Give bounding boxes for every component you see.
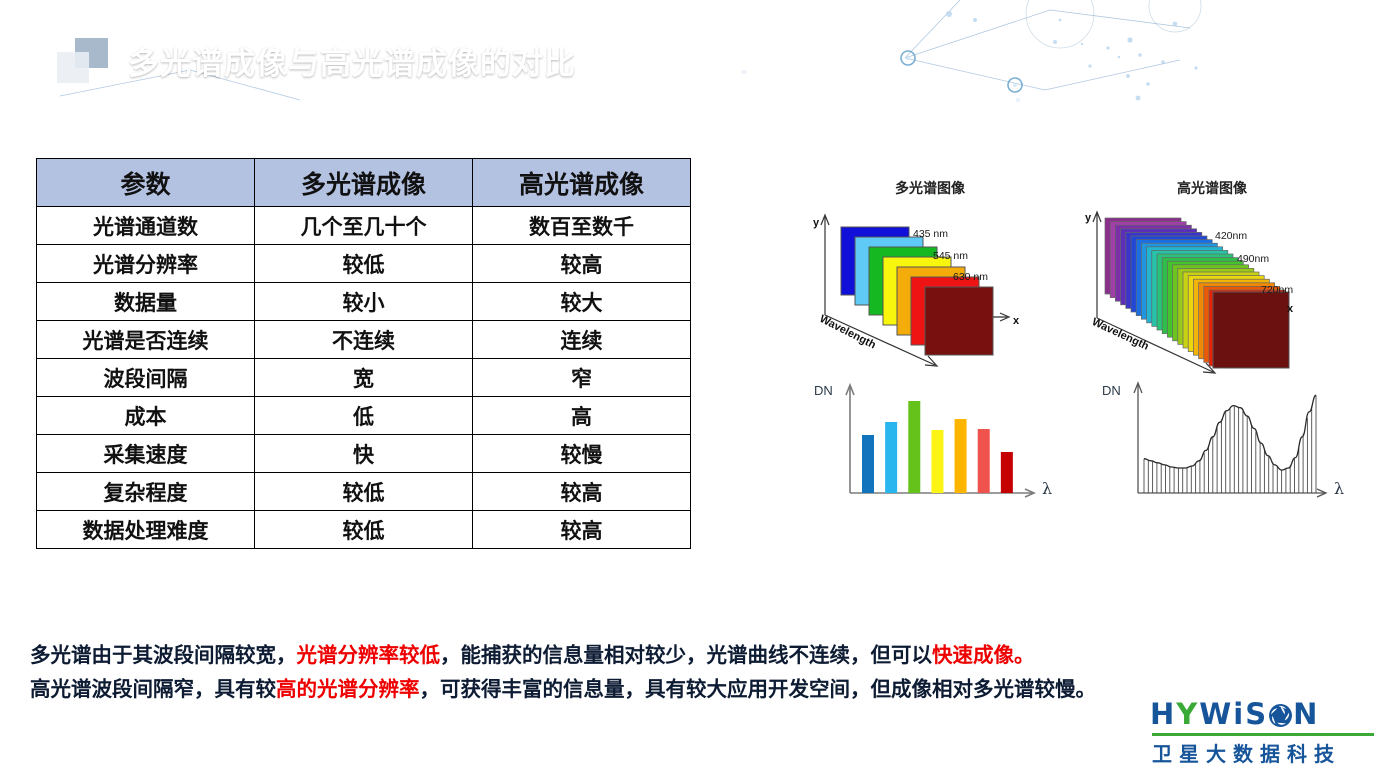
cell-hyperspectral: 数百至数千 bbox=[473, 207, 691, 245]
cell-multispectral: 较低 bbox=[255, 511, 473, 549]
axis-label-x-ms: x bbox=[1013, 315, 1019, 327]
slide-root: 多光谱成像与高光谱成像的对比 参数 多光谱成像 高光谱成像 光谱通道数几个至几十… bbox=[0, 0, 1398, 769]
table-row: 成本低高 bbox=[37, 397, 691, 435]
slide-header: 多光谱成像与高光谱成像的对比 bbox=[0, 0, 1398, 104]
body-text: ，能捕获的信息量相对较少，光谱曲线不连续，但可以 bbox=[440, 643, 932, 667]
cell-hyperspectral: 连续 bbox=[473, 321, 691, 359]
summary-paragraph-multispectral: 多光谱由于其波段间隔较宽，光谱分辨率较低，能捕获的信息量相对较少，光谱曲线不连续… bbox=[30, 638, 1035, 668]
cell-param: 波段间隔 bbox=[37, 359, 255, 397]
cell-hyperspectral: 较慢 bbox=[473, 435, 691, 473]
cell-multispectral: 低 bbox=[255, 397, 473, 435]
hs-axis-label-lambda: λ bbox=[1334, 479, 1344, 498]
logo-letters-wis: WiS bbox=[1199, 697, 1268, 731]
bar-b5 bbox=[955, 419, 967, 493]
spectral-diagram-panel: 多光谱图像 高光谱图像 435 nm bbox=[730, 160, 1380, 560]
two-squares-icon bbox=[57, 38, 113, 84]
body-text: 多光谱由于其波段间隔较宽， bbox=[30, 643, 297, 667]
cell-param: 光谱是否连续 bbox=[37, 321, 255, 359]
cell-hyperspectral: 较高 bbox=[473, 511, 691, 549]
cell-multispectral: 快 bbox=[255, 435, 473, 473]
ms-axis-label-dn: DN bbox=[814, 383, 833, 398]
band-label-545: 545 nm bbox=[933, 250, 968, 262]
cell-param: 光谱通道数 bbox=[37, 207, 255, 245]
axis-label-y-ms: y bbox=[813, 217, 819, 229]
cell-param: 光谱分辨率 bbox=[37, 245, 255, 283]
bar-b7 bbox=[1001, 452, 1013, 493]
band-label-490: 490nm bbox=[1237, 253, 1269, 265]
band-label-420: 420nm bbox=[1215, 230, 1247, 242]
cell-multispectral: 较低 bbox=[255, 245, 473, 283]
table-row: 光谱是否连续不连续连续 bbox=[37, 321, 691, 359]
table-row: 采集速度快较慢 bbox=[37, 435, 691, 473]
hs-axis-label-dn: DN bbox=[1102, 383, 1121, 398]
summary-paragraph-hyperspectral: 高光谱波段间隔窄，具有较高的光谱分辨率，可获得丰富的信息量，具有较大应用开发空间… bbox=[30, 672, 1096, 702]
axis-label-x-hs: x bbox=[1287, 303, 1293, 315]
cell-hyperspectral: 窄 bbox=[473, 359, 691, 397]
logo-letter-h: H bbox=[1150, 697, 1176, 731]
table-row: 光谱通道数几个至几十个数百至数千 bbox=[37, 207, 691, 245]
logo-letter-n: N bbox=[1293, 697, 1319, 731]
bar-b2 bbox=[885, 422, 897, 493]
square-front bbox=[57, 52, 89, 83]
cell-param: 采集速度 bbox=[37, 435, 255, 473]
table-row: 数据处理难度较低较高 bbox=[37, 511, 691, 549]
ms-axis-label-lambda: λ bbox=[1042, 479, 1052, 498]
cell-multispectral: 较小 bbox=[255, 283, 473, 321]
cell-param: 数据量 bbox=[37, 283, 255, 321]
multispectral-cube-title: 多光谱图像 bbox=[895, 178, 965, 198]
logo-divider bbox=[1152, 733, 1374, 736]
column-header-hyper: 高光谱成像 bbox=[473, 159, 691, 207]
cell-hyperspectral: 较高 bbox=[473, 245, 691, 283]
cell-hyperspectral: 较高 bbox=[473, 473, 691, 511]
highlighted-text: 快速成像。 bbox=[932, 643, 1035, 667]
band-label-630: 630 nm bbox=[953, 271, 988, 283]
bar-b3 bbox=[908, 401, 920, 493]
table-row: 数据量较小较大 bbox=[37, 283, 691, 321]
logo-chinese-name: 卫星大数据科技 bbox=[1152, 738, 1341, 767]
table-row: 波段间隔宽窄 bbox=[37, 359, 691, 397]
cell-param: 数据处理难度 bbox=[37, 511, 255, 549]
logo-wordmark: HYWiSN bbox=[1150, 698, 1319, 730]
bar-b6 bbox=[978, 429, 990, 493]
highlighted-text: 光谱分辨率较低 bbox=[297, 643, 441, 667]
table-row: 复杂程度较低较高 bbox=[37, 473, 691, 511]
multispectral-bar-chart: DN λ bbox=[810, 375, 1060, 510]
axis-label-y-hs: y bbox=[1085, 212, 1091, 224]
cell-hyperspectral: 较大 bbox=[473, 283, 691, 321]
cell-param: 复杂程度 bbox=[37, 473, 255, 511]
multispectral-cube: 435 nm 545 nm 630 nm y x Wavelength bbox=[785, 205, 1075, 370]
column-header-param: 参数 bbox=[37, 159, 255, 207]
highlighted-text: 高的光谱分辨率 bbox=[276, 677, 420, 701]
aperture-icon bbox=[1268, 702, 1293, 727]
cell-hyperspectral: 高 bbox=[473, 397, 691, 435]
bar-b1 bbox=[862, 435, 874, 493]
company-logo: HYWiSN 卫星大数据科技 bbox=[1150, 698, 1380, 762]
cell-multispectral: 几个至几十个 bbox=[255, 207, 473, 245]
body-text: 高光谱波段间隔窄，具有较 bbox=[30, 677, 276, 701]
column-header-multi: 多光谱成像 bbox=[255, 159, 473, 207]
hyperspectral-line-chart: DN λ bbox=[1100, 375, 1350, 510]
cell-param: 成本 bbox=[37, 397, 255, 435]
hyperspectral-cube: 420nm 490nm 720nm y x Wavelength bbox=[1065, 200, 1365, 375]
table-header-row: 参数 多光谱成像 高光谱成像 bbox=[37, 159, 691, 207]
bar-b4 bbox=[931, 430, 943, 493]
cell-multispectral: 较低 bbox=[255, 473, 473, 511]
cell-multispectral: 不连续 bbox=[255, 321, 473, 359]
cell-multispectral: 宽 bbox=[255, 359, 473, 397]
band-label-435: 435 nm bbox=[913, 228, 948, 240]
band-label-720: 720nm bbox=[1261, 284, 1293, 296]
logo-letter-y: Y bbox=[1176, 697, 1199, 731]
comparison-table: 参数 多光谱成像 高光谱成像 光谱通道数几个至几十个数百至数千光谱分辨率较低较高… bbox=[36, 158, 691, 549]
page-title: 多光谱成像与高光谱成像的对比 bbox=[128, 38, 576, 83]
body-text: ，可获得丰富的信息量，具有较大应用开发空间，但成像相对多光谱较慢。 bbox=[420, 677, 1097, 701]
table-row: 光谱分辨率较低较高 bbox=[37, 245, 691, 283]
hyperspectral-cube-title: 高光谱图像 bbox=[1177, 178, 1247, 198]
